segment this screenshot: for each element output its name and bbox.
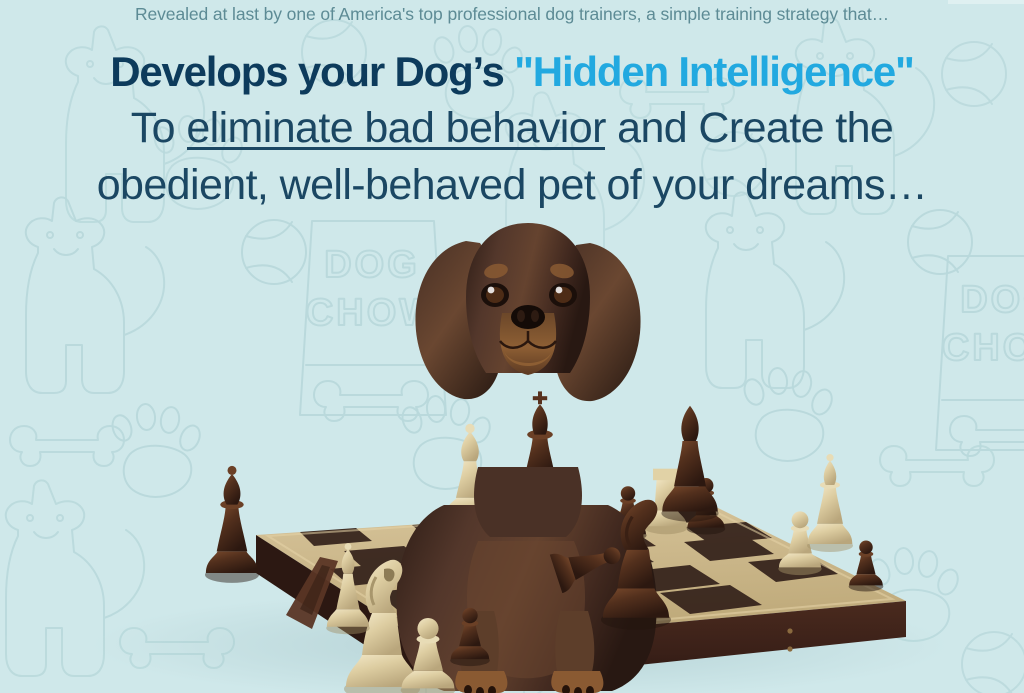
top-edge-rule [948,0,1024,4]
headline-secondary: To eliminate bad behavior and Create the… [0,96,1024,214]
hero-photo-dog-on-chessboard [0,205,1024,693]
headline-primary-accent: "Hidden Intelligence" [514,48,914,95]
hero-section: DOG CHOW [0,0,1024,693]
eyebrow-text: Revealed at last by one of America's top… [0,0,1024,26]
headline-secondary-prefix: To [131,104,187,152]
headline-secondary-line-1: To eliminate bad behavior and Create the [0,100,1024,157]
hero-copy: Revealed at last by one of America's top… [0,0,1024,214]
headline-emphasis-underlined: eliminate bad behavior [186,104,605,152]
headline-secondary-suffix: and Create the [606,104,893,152]
headline-secondary-line-2: obedient, well-behaved pet of your dream… [0,157,1024,214]
headline-primary-navy: Develops your Dog’s [110,48,514,95]
headline-primary: Develops your Dog’s "Hidden Intelligence… [0,26,1024,96]
